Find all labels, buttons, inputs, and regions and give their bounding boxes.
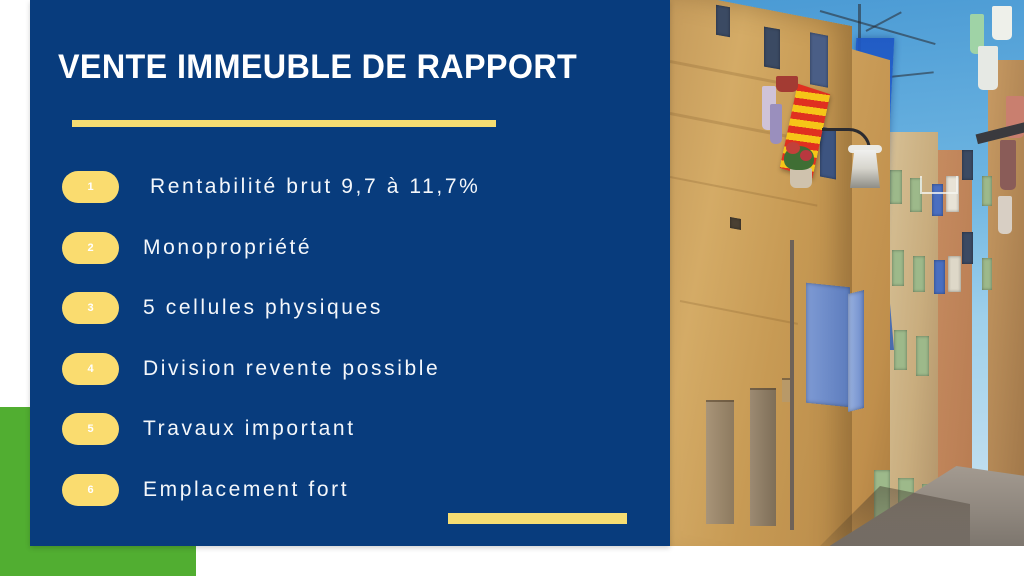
window bbox=[962, 232, 973, 264]
window bbox=[716, 5, 730, 37]
list-item-badge-6: 6 bbox=[62, 474, 119, 506]
list-item-badge-4: 4 bbox=[62, 353, 119, 385]
open-shutter bbox=[806, 283, 850, 408]
list-item: 1 Rentabilité brut 9,7 à 11,7% bbox=[30, 157, 670, 218]
list-item-badge-5: 5 bbox=[62, 413, 119, 445]
flower bbox=[786, 142, 800, 154]
window bbox=[764, 27, 780, 70]
bottom-accent-bar bbox=[448, 513, 627, 524]
flower-pot bbox=[790, 168, 812, 188]
window-shutter bbox=[810, 32, 828, 87]
hanging-laundry bbox=[998, 196, 1012, 234]
feature-list: 1 Rentabilité brut 9,7 à 11,7% 2 Monopro… bbox=[30, 157, 670, 520]
slide-canvas: VENTE IMMEUBLE DE RAPPORT 1 Rentabilité … bbox=[0, 0, 1024, 576]
street-lamp-head bbox=[850, 150, 880, 188]
list-item-label-3: 5 cellules physiques bbox=[143, 296, 383, 320]
list-item: 3 5 cellules physiques bbox=[30, 278, 670, 339]
window bbox=[962, 150, 973, 180]
list-item-badge-2: 2 bbox=[62, 232, 119, 264]
list-item: 6 Emplacement fort bbox=[30, 460, 670, 521]
door bbox=[706, 400, 734, 524]
open-shutter-leaf bbox=[848, 290, 864, 412]
list-item-label-5: Travaux important bbox=[143, 417, 356, 441]
flower bbox=[800, 150, 812, 161]
list-item: 2 Monopropriété bbox=[30, 218, 670, 279]
street-photo bbox=[670, 0, 1024, 546]
list-item: 4 Division revente possible bbox=[30, 339, 670, 400]
hanging-laundry bbox=[978, 46, 998, 90]
window bbox=[890, 170, 902, 204]
list-item-label-2: Monopropriété bbox=[143, 236, 312, 260]
content-panel: VENTE IMMEUBLE DE RAPPORT 1 Rentabilité … bbox=[30, 0, 670, 546]
hanging-laundry bbox=[1000, 140, 1016, 190]
page-title: VENTE IMMEUBLE DE RAPPORT bbox=[58, 48, 577, 87]
window bbox=[948, 256, 961, 292]
wall-vent bbox=[730, 217, 741, 230]
list-item-badge-1: 1 bbox=[62, 171, 119, 203]
title-underline-bar bbox=[72, 120, 496, 127]
hanging-laundry bbox=[992, 6, 1012, 40]
list-item-label-6: Emplacement fort bbox=[143, 478, 349, 502]
door bbox=[750, 388, 776, 526]
flower-pot bbox=[776, 76, 798, 92]
window bbox=[892, 250, 904, 286]
drainpipe bbox=[790, 240, 794, 530]
window bbox=[982, 176, 992, 206]
balcony bbox=[920, 176, 958, 194]
window bbox=[934, 260, 945, 294]
window bbox=[894, 330, 907, 370]
window bbox=[913, 256, 925, 292]
hanging-laundry bbox=[770, 104, 782, 144]
list-item-badge-3: 3 bbox=[62, 292, 119, 324]
list-item-label-1: Rentabilité brut 9,7 à 11,7% bbox=[150, 175, 480, 199]
list-item: 5 Travaux important bbox=[30, 399, 670, 460]
list-item-label-4: Division revente possible bbox=[143, 357, 440, 381]
window bbox=[982, 258, 992, 290]
window bbox=[916, 336, 929, 376]
